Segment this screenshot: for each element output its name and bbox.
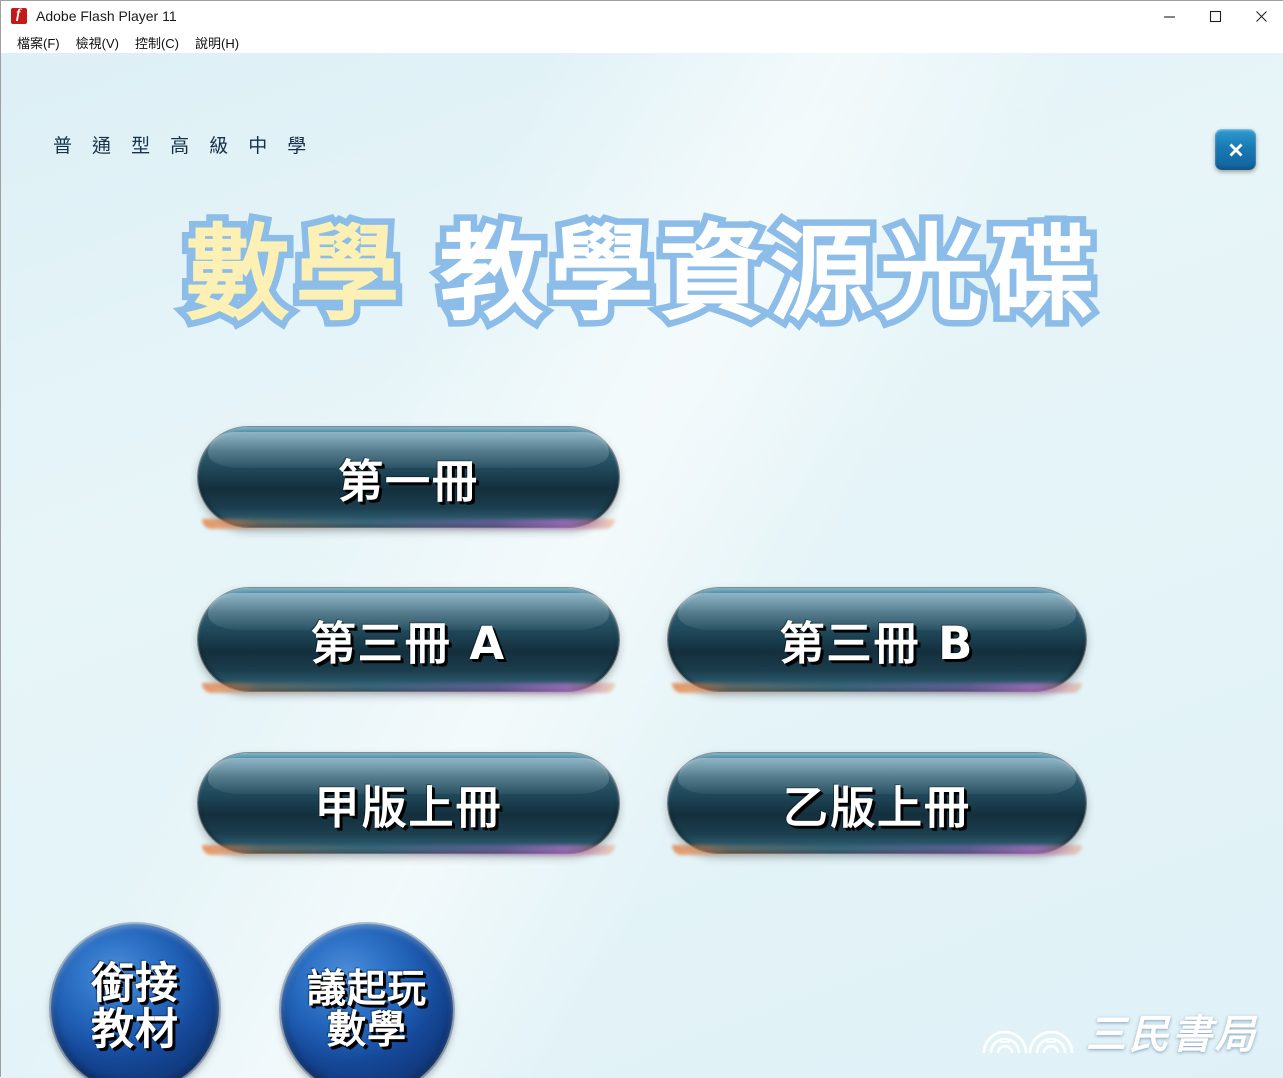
title-description: 教學資源光碟 [440,213,1100,335]
button-bridging-material-line1: 銜接 [91,962,179,1008]
title-subject: 數學 [185,213,405,335]
menu-bar: 檔案(F) 檢視(V) 控制(C) 說明(H) [1,31,1283,53]
menu-file[interactable]: 檔案(F) [9,31,68,54]
menu-view[interactable]: 檢視(V) [68,31,127,54]
button-yi-upper[interactable]: 乙版上冊 [668,753,1086,853]
background-artwork [1,53,1283,1078]
window-title: Adobe Flash Player 11 [36,8,177,24]
application-window: Adobe Flash Player 11 檔案(F) [0,0,1283,1077]
button-play-math-line1: 議起玩 [307,969,427,1010]
minimize-button[interactable] [1146,1,1192,31]
button-volume-1-label: 第一冊 [338,445,479,510]
button-jia-upper-label: 甲版上冊 [314,771,502,836]
title-bar-left: Adobe Flash Player 11 [1,8,177,24]
button-volume-3a[interactable]: 第三冊 A [198,588,619,691]
stage-close-button[interactable] [1215,129,1256,170]
menu-help[interactable]: 說明(H) [187,31,247,54]
window-close-button[interactable] [1238,1,1283,31]
page-title: 數學教學資源光碟 [1,215,1283,333]
button-jia-upper[interactable]: 甲版上冊 [198,753,619,853]
window-controls [1146,1,1283,31]
close-x-icon [1225,139,1247,161]
button-volume-3b-label: 第三冊 B [780,607,975,672]
button-yi-upper-label: 乙版上冊 [783,771,971,836]
button-bridging-material-line2: 教材 [91,1008,179,1054]
button-play-math-line2: 數學 [327,1010,407,1051]
button-volume-3b[interactable]: 第三冊 B [668,588,1086,691]
button-volume-1[interactable]: 第一冊 [198,427,619,527]
flash-stage: 普 通 型 高 級 中 學 數學教學資源光碟 第一冊 第三冊 A 第三冊 B 甲… [1,53,1283,1078]
button-bridging-material[interactable]: 銜接 教材 [51,924,219,1078]
maximize-button[interactable] [1192,1,1238,31]
button-volume-3a-label: 第三冊 A [311,607,507,672]
flash-icon [11,8,27,24]
school-level-label: 普 通 型 高 級 中 學 [53,131,313,158]
menu-control[interactable]: 控制(C) [127,31,187,54]
title-bar: Adobe Flash Player 11 [1,1,1283,31]
